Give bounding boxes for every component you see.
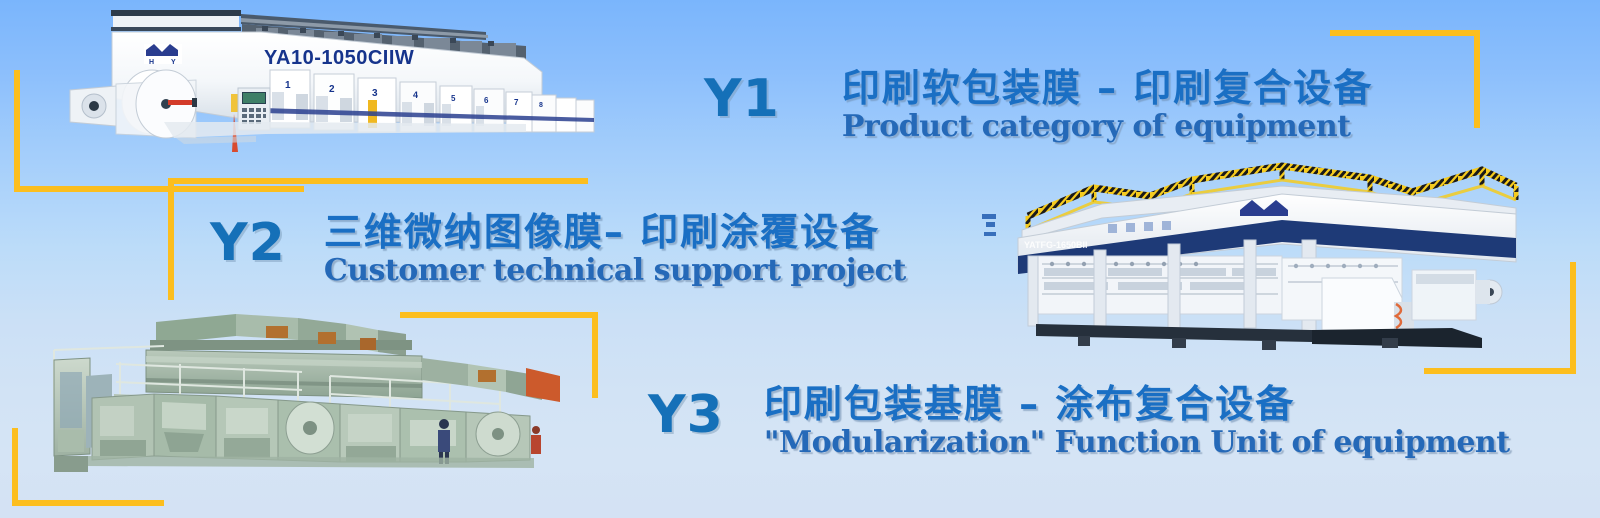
machine-brand-logo: H Y xyxy=(144,44,182,66)
machine-unwind-unit xyxy=(1412,270,1502,320)
svg-text:7: 7 xyxy=(514,98,519,107)
machine-model-label: YA10-1050CIIW xyxy=(264,47,414,69)
bracket-horizontal-rule xyxy=(12,500,164,506)
headline-body-y2: 三维微纳图像膜– 印刷涂覆设备 Customer technical suppo… xyxy=(324,210,906,288)
bracket-vertical-rule xyxy=(1570,262,1576,374)
machine-image-base-film-coating-line xyxy=(30,306,576,478)
bracket-vertical-rule xyxy=(14,70,20,192)
svg-text:2: 2 xyxy=(329,84,335,95)
bracket-horizontal-rule xyxy=(1424,368,1576,374)
bracket-horizontal-rule xyxy=(1330,30,1480,36)
headline-tag-y3: Y3 xyxy=(648,388,724,442)
bracket-vertical-rule xyxy=(592,312,598,398)
machine-image-dry-lamination-coating-machine: YATFG-1650BII xyxy=(982,152,1522,358)
machine-right-hoods xyxy=(422,358,560,402)
bracket-vertical-rule xyxy=(1474,30,1480,128)
machine-upper-ducts xyxy=(150,314,412,356)
svg-text:5: 5 xyxy=(451,94,456,103)
headline-body-y1: 印刷软包装膜 – 印刷复合设备 Product category of equi… xyxy=(842,66,1373,144)
svg-text:Y: Y xyxy=(171,59,176,66)
headline-block-y1: Y1 印刷软包装膜 – 印刷复合设备 Product category of e… xyxy=(704,66,1373,144)
headline-chinese-y3: 印刷包装基膜 – 涂布复合设备 xyxy=(764,382,1510,426)
svg-text:8: 8 xyxy=(539,102,543,109)
machine-lower-units xyxy=(92,394,530,462)
svg-text:1: 1 xyxy=(285,80,291,91)
bracket-vertical-rule xyxy=(12,428,18,506)
machine-model-label: YATFG-1650BII xyxy=(1024,240,1088,250)
headline-english-y3: "Modularization" Function Unit of equipm… xyxy=(764,426,1510,460)
headline-block-y2: Y2 三维微纳图像膜– 印刷涂覆设备 Customer technical su… xyxy=(210,210,906,288)
svg-text:4: 4 xyxy=(413,90,418,100)
machine-base-frame xyxy=(1036,324,1482,350)
bracket-horizontal-rule xyxy=(168,178,588,184)
headline-english-y2: Customer technical support project xyxy=(324,254,906,288)
headline-tag-y2: Y2 xyxy=(210,216,286,270)
machine-side-character xyxy=(982,214,996,236)
machine-image-rotogravure-printing-press: H Y YA10-1050CIIW xyxy=(56,2,596,170)
headline-body-y3: 印刷包装基膜 – 涂布复合设备 "Modularization" Functio… xyxy=(764,382,1510,460)
bracket-vertical-rule xyxy=(168,178,174,300)
headline-chinese-y1: 印刷软包装膜 – 印刷复合设备 xyxy=(842,66,1373,110)
svg-text:H: H xyxy=(149,59,154,66)
svg-text:6: 6 xyxy=(484,96,489,105)
headline-english-y1: Product category of equipment xyxy=(842,110,1373,144)
headline-block-y3: Y3 印刷包装基膜 – 涂布复合设备 "Modularization" Func… xyxy=(648,382,1510,460)
machine-operator-figure-2 xyxy=(531,426,541,454)
headline-tag-y1: Y1 xyxy=(704,72,780,126)
product-category-banner: H Y YA10-1050CIIW xyxy=(0,0,1600,518)
svg-text:3: 3 xyxy=(372,88,378,99)
headline-chinese-y2: 三维微纳图像膜– 印刷涂覆设备 xyxy=(324,210,906,254)
